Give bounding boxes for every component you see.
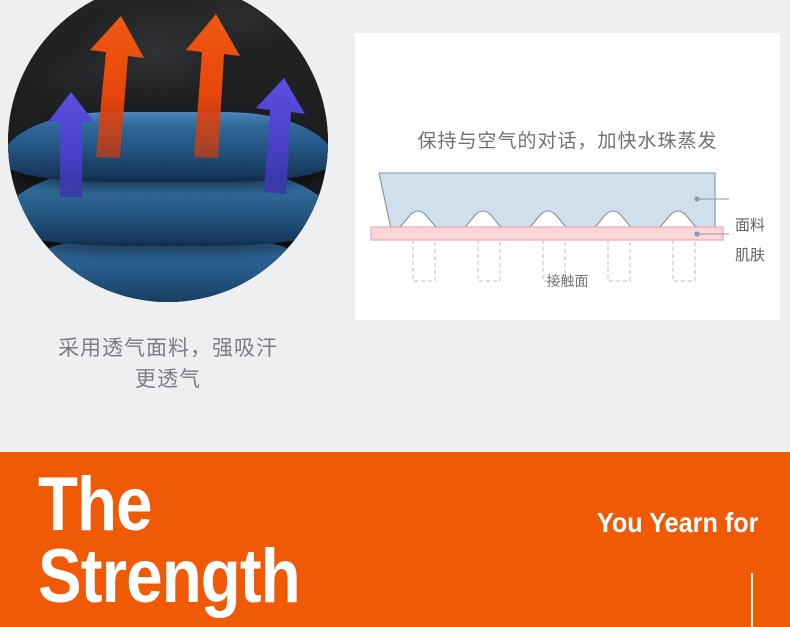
- fabric-layer: [379, 173, 715, 229]
- banner-subtitle: You Yearn for: [596, 507, 758, 539]
- banner-vertical-rule: [751, 573, 753, 627]
- arrow-orange-left: [90, 16, 144, 158]
- photo-circle-mask: [8, 0, 328, 302]
- skin-layer: [371, 227, 723, 240]
- photo-caption-line-2: 更透气: [8, 364, 328, 395]
- fabric-photo: [8, 0, 328, 302]
- photo-caption: 采用透气面料，强吸汗 更透气: [8, 333, 328, 395]
- airflow-arrows: [8, 0, 328, 302]
- photo-caption-line-1: 采用透气面料，强吸汗: [8, 333, 328, 364]
- arrow-blue-right: [256, 78, 305, 194]
- arrow-orange-right: [186, 14, 240, 158]
- orange-banner: The Strength You Yearn for: [0, 452, 790, 627]
- fabric-diagram-panel: 保持与空气的对话，加快水珠蒸发: [355, 33, 780, 320]
- diagram-label-fabric: 面料: [735, 214, 765, 235]
- diagram-label-contact-surface: 接触面: [355, 271, 780, 291]
- product-detail-page: 采用透气面料，强吸汗 更透气 保持与空气的对话，加快水珠蒸发: [0, 0, 790, 627]
- features-section: 采用透气面料，强吸汗 更透气 保持与空气的对话，加快水珠蒸发: [0, 0, 790, 452]
- diagram-label-skin: 肌肤: [735, 244, 765, 265]
- banner-heading-line-2: Strength: [38, 541, 300, 613]
- banner-heading-line-1: The: [38, 469, 300, 541]
- arrow-blue-left: [48, 92, 94, 197]
- banner-heading: The Strength: [38, 469, 300, 613]
